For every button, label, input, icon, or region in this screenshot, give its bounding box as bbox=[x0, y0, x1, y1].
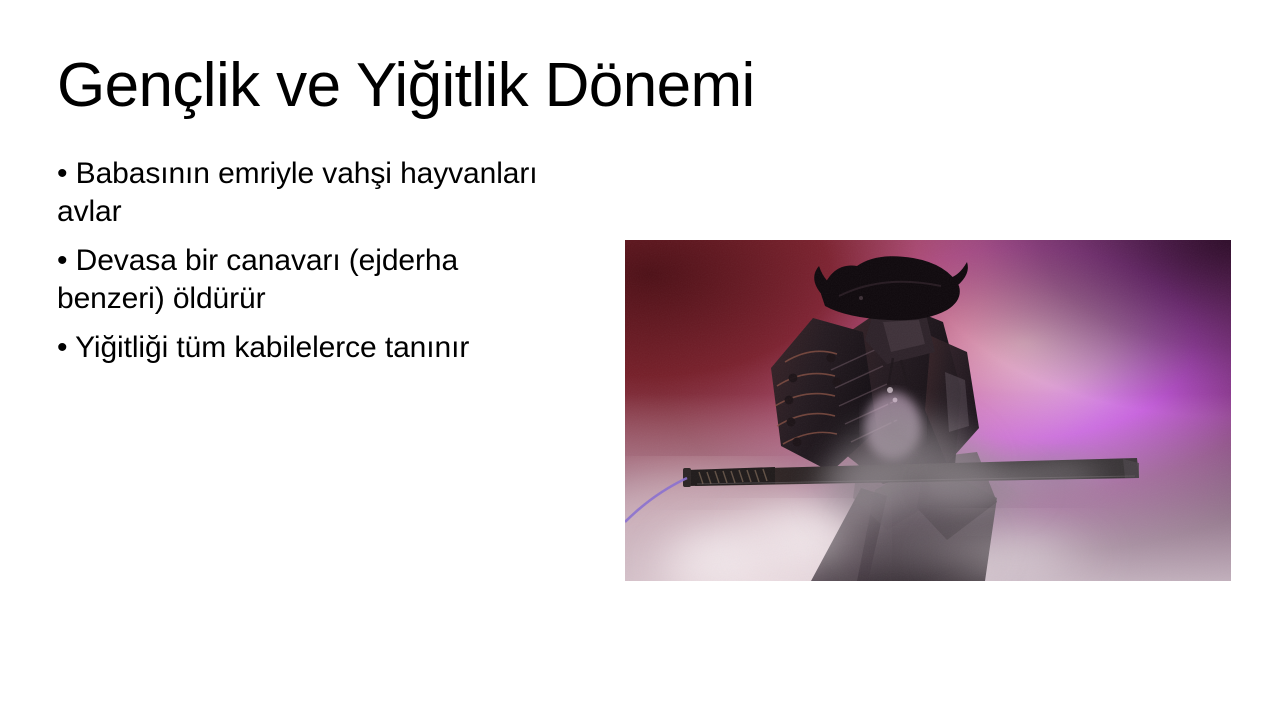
bullet-dot-icon: • bbox=[57, 244, 67, 277]
list-item: • Devasa bir canavarı (ejderha benzeri) … bbox=[57, 242, 562, 318]
bullet-dot-icon: • bbox=[57, 331, 67, 364]
list-item: • Yiğitliği tüm kabilelerce tanınır bbox=[57, 329, 562, 367]
list-item-label: Yiğitliği tüm kabilelerce tanınır bbox=[75, 331, 469, 364]
samurai-illustration bbox=[625, 240, 1231, 581]
bullet-dot-icon: • bbox=[57, 157, 67, 190]
list-item-label: Devasa bir canavarı (ejderha benzeri) öl… bbox=[57, 244, 458, 315]
samurai-image bbox=[625, 240, 1231, 581]
slide: Gençlik ve Yiğitlik Dönemi • Babasının e… bbox=[0, 0, 1280, 720]
bullet-list: • Babasının emriyle vahşi hayvanları avl… bbox=[57, 155, 562, 367]
list-item-label: Babasının emriyle vahşi hayvanları avlar bbox=[57, 157, 538, 228]
list-item: • Babasının emriyle vahşi hayvanları avl… bbox=[57, 155, 562, 231]
page-title: Gençlik ve Yiğitlik Dönemi bbox=[57, 52, 1157, 120]
